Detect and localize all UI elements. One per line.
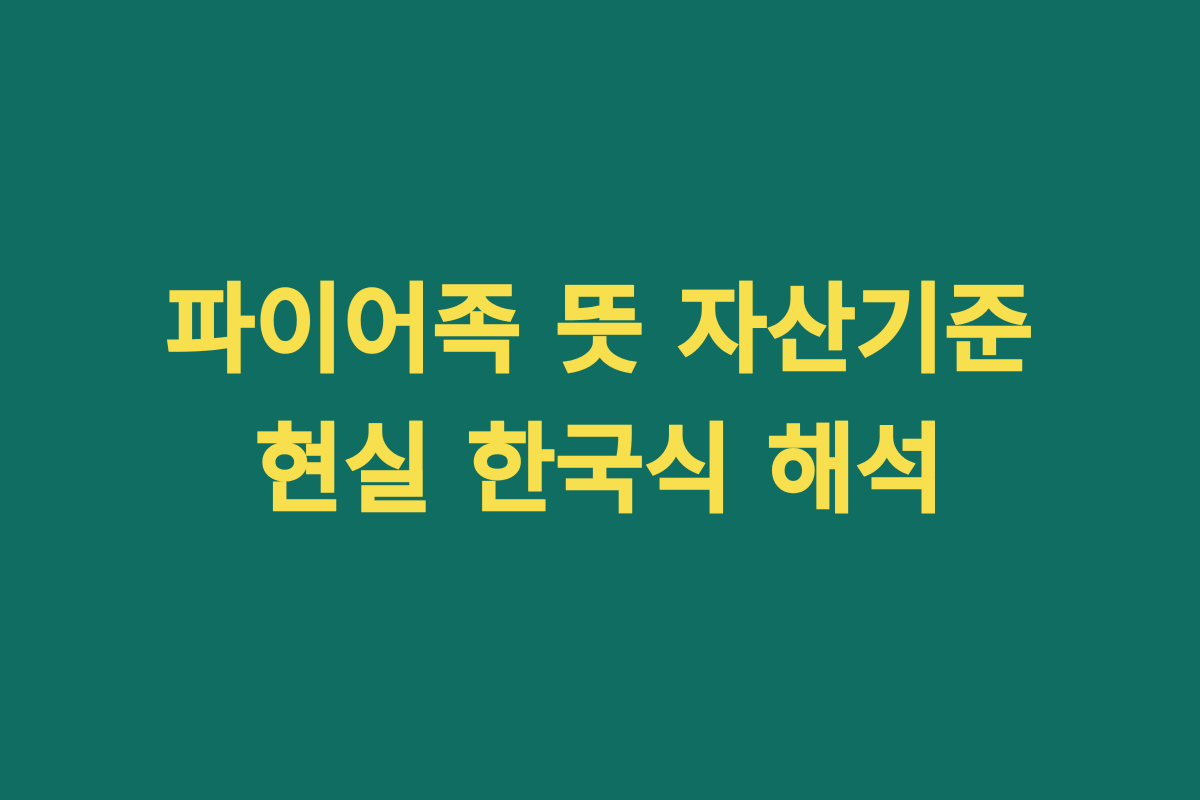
headline-block: 파이어족 뜻 자산기준 현실 한국식 해석: [85, 260, 1115, 540]
page-title: 파이어족 뜻 자산기준 현실 한국식 해석: [95, 260, 1105, 540]
thumbnail-card: 파이어족 뜻 자산기준 현실 한국식 해석: [0, 0, 1200, 800]
